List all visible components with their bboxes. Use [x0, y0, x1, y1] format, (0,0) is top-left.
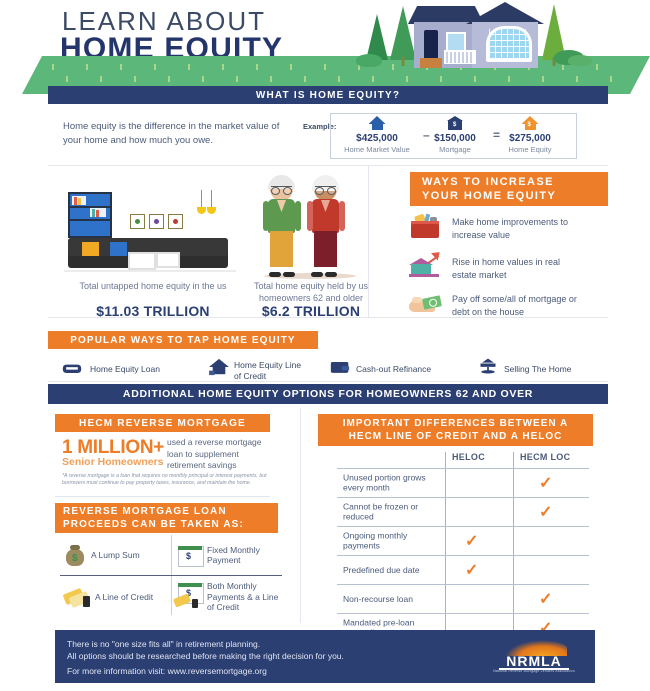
footer-line2: All options should be researched before …	[67, 650, 344, 662]
heloc-check-icon: ✓	[465, 560, 478, 580]
popular-way-label: Home Equity Line of Credit	[234, 360, 304, 382]
table-row: Predefined due date✓	[335, 555, 593, 584]
table-row: Unused portion grows every month✓	[335, 468, 593, 497]
additional-options-label: ADDITIONAL HOME EQUITY OPTIONS FOR HOMEO…	[123, 388, 533, 400]
grass-tuft	[100, 76, 102, 82]
column-header-heloc: HELOC	[452, 452, 485, 462]
ways-bar-line1: WAYS TO INCREASE	[422, 175, 554, 189]
hecm-footnote: *A reverse mortgage is a loan that requi…	[62, 473, 270, 487]
proceeds-option-label: A Lump Sum	[91, 550, 140, 561]
check-icon: $	[178, 546, 202, 565]
house-door	[424, 30, 438, 58]
side-table-icon	[156, 252, 180, 268]
divider-vertical	[300, 408, 301, 623]
row-divider	[337, 613, 589, 614]
example-caption: Mortgage	[414, 145, 496, 154]
bank-icon: $	[447, 116, 463, 130]
proceeds-bar-line1: REVERSE MORTGAGE LOAN	[63, 505, 227, 518]
footer-line3[interactable]: For more information visit: www.reversem…	[67, 666, 267, 676]
cash-stack-icon	[62, 360, 82, 376]
section-bar-comparison: IMPORTANT DIFFERENCES BETWEEN A HECM LIN…	[318, 414, 593, 446]
row-divider	[337, 555, 589, 556]
grass-tuft	[338, 76, 340, 82]
house-arch-window	[486, 26, 532, 62]
proceeds-option: $ Both Monthly Payments & a Line of Cred…	[178, 577, 286, 617]
grass-tuft	[270, 76, 272, 82]
proceeds-option-label: A Line of Credit	[95, 592, 153, 603]
infographic-page: LEARN ABOUT HOME EQUITY	[0, 0, 650, 691]
divider	[48, 165, 608, 166]
coffee-table-icon	[128, 252, 156, 270]
home-equity-definition: Home equity is the difference in the mar…	[63, 120, 288, 148]
row-divider	[337, 526, 589, 527]
comparison-bar-line2: HECM LINE OF CREDIT AND A HELOC	[349, 430, 563, 443]
footer-text-block: There is no "one size fits all" in retir…	[67, 638, 344, 662]
hecm-loc-check-icon: ✓	[539, 473, 552, 493]
example-caption: Home Market Value	[336, 145, 418, 154]
table-row-feature: Cannot be frozen or reduced	[343, 501, 438, 522]
footer-line1: There is no "one size fits all" in retir…	[67, 638, 344, 650]
table-row: Non-recourse loan✓	[335, 584, 593, 613]
nrmla-logo: NRMLA National Reverse Mortgage Lenders …	[491, 640, 577, 674]
popular-way-label: Selling The Home	[504, 364, 604, 375]
bookshelf-icon	[68, 192, 112, 238]
grass-tuft	[168, 76, 170, 82]
example-amount: $150,000	[414, 133, 496, 144]
proceeds-options-grid: $ A Lump Sum $ Fixed Monthly Payment A L…	[60, 533, 282, 617]
ways-bar-line2: YOUR HOME EQUITY	[422, 189, 556, 203]
way-to-increase-text: Pay off some/all of mortgage or debt on …	[452, 293, 592, 318]
hecm-stat-text: used a reverse mortgage loan to suppleme…	[167, 437, 272, 472]
house-blue-icon	[369, 116, 386, 130]
hecm-loc-check-icon: ✓	[539, 502, 552, 522]
example-caption: Home Equity	[489, 145, 571, 154]
for-sale-sign-icon	[478, 357, 498, 373]
section-bar-popular-ways: POPULAR WAYS TO TAP HOME EQUITY	[48, 331, 318, 349]
living-room-illustration	[68, 190, 238, 280]
table-row-feature: Unused portion grows every month	[343, 472, 438, 493]
grass-tuft	[290, 64, 292, 70]
stat-caption: Total untapped home equity in the us	[78, 280, 228, 292]
stat-caption: Total home equity held by us homeowners …	[232, 280, 390, 304]
table-row-feature: Ongoing monthly payments	[343, 530, 438, 551]
table-row: Cannot be frozen or reduced✓	[335, 497, 593, 526]
proceeds-option: $ Fixed Monthly Payment	[178, 535, 286, 575]
bush-icon	[568, 55, 592, 66]
grass-tuft	[222, 64, 224, 70]
house-scene-illustration	[352, 0, 650, 80]
section-bar-label: WHAT IS HOME EQUITY?	[256, 90, 400, 101]
footer-banner: There is no "one size fits all" in retir…	[55, 630, 595, 683]
example-item-mortgage: $ $150,000 Mortgage	[414, 116, 496, 154]
section-bar-what-is-home-equity: WHAT IS HOME EQUITY?	[48, 86, 608, 104]
grass-tuft	[188, 64, 190, 70]
popular-way-label: Cash-out Refinance	[356, 364, 456, 375]
proceeds-bar-line2: PROCEEDS CAN BE TAKEN AS:	[63, 518, 244, 531]
grass-tuft	[256, 64, 258, 70]
table-row-feature: Non-recourse loan	[343, 593, 438, 604]
grass-tuft	[86, 64, 88, 70]
money-bag-icon: $	[64, 544, 86, 566]
nrmla-logo-subtitle: National Reverse Mortgage Lenders Associ…	[491, 669, 577, 673]
wall-art-frames	[130, 214, 183, 229]
house-window	[446, 32, 466, 52]
house-illustration	[410, 2, 540, 68]
grass-tuft	[52, 64, 54, 70]
row-divider	[337, 584, 589, 585]
grass-tuft	[66, 76, 68, 82]
credit-card-icon	[64, 587, 90, 607]
column-header-hecm-loc: HECM LOC	[520, 452, 570, 462]
toolbox-icon	[409, 213, 443, 239]
grass-tuft	[120, 64, 122, 70]
table-row: Ongoing monthly payments✓	[335, 526, 593, 555]
hecm-loc-check-icon: ✓	[539, 589, 552, 609]
senior-couple-illustration	[262, 172, 358, 277]
heloc-check-icon: ✓	[465, 531, 478, 551]
section-bar-hecm-reverse-mortgage: HECM REVERSE MORTGAGE	[55, 414, 270, 432]
example-amount: $425,000	[336, 133, 418, 144]
section-bar-ways-to-increase: WAYS TO INCREASE YOUR HOME EQUITY	[410, 172, 608, 206]
house-icon	[208, 358, 228, 374]
proceeds-option-label: Fixed Monthly Payment	[207, 545, 286, 566]
grass-tuft	[202, 76, 204, 82]
table-row-feature: Predefined due date	[343, 564, 438, 575]
hero-header: LEARN ABOUT HOME EQUITY	[0, 0, 650, 100]
hecm-stat-sub: Senior Homeowners	[62, 456, 164, 468]
comparison-bar-line1: IMPORTANT DIFFERENCES BETWEEN A	[343, 417, 568, 430]
hand-cash-icon	[409, 289, 443, 315]
row-divider	[337, 468, 589, 469]
person-woman	[306, 177, 346, 277]
grass-tuft	[154, 64, 156, 70]
house-orange-icon: $	[522, 116, 539, 130]
person-man	[262, 177, 302, 277]
grass-tuft	[304, 76, 306, 82]
divider	[48, 381, 608, 382]
proceeds-option: $ A Lump Sum	[64, 535, 172, 575]
example-item-market-value: $425,000 Home Market Value	[336, 116, 418, 154]
grass-tuft	[236, 76, 238, 82]
grass-tuft	[134, 76, 136, 82]
section-bar-additional-options: ADDITIONAL HOME EQUITY OPTIONS FOR HOMEO…	[48, 384, 608, 404]
divider	[48, 317, 608, 318]
section-bar-proceeds: REVERSE MORTGAGE LOAN PROCEEDS CAN BE TA…	[55, 503, 278, 533]
way-to-increase-text: Make home improvements to increase value	[452, 216, 587, 241]
proceeds-option: A Line of Credit	[64, 577, 172, 617]
example-amount: $275,000	[489, 133, 571, 144]
divider	[55, 496, 270, 497]
grass-tuft	[324, 64, 326, 70]
proceeds-option-label: Both Monthly Payments & a Line of Credit	[207, 581, 286, 613]
example-item-home-equity: $ $275,000 Home Equity	[489, 116, 571, 154]
nrmla-logo-text: NRMLA	[491, 653, 577, 669]
popular-ways-bar-label: POPULAR WAYS TO TAP HOME EQUITY	[70, 335, 295, 346]
row-divider	[337, 497, 589, 498]
check-and-card-icon: $	[178, 583, 202, 602]
bush-icon	[356, 54, 382, 67]
pendant-lamp-icon	[196, 190, 220, 220]
wallet-icon	[330, 359, 350, 375]
way-to-increase-text: Rise in home values in real estate marke…	[452, 256, 587, 281]
hecm-bar-label: HECM REVERSE MORTGAGE	[79, 418, 246, 429]
popular-way-label: Home Equity Loan	[90, 364, 190, 375]
house-growth-arrow-icon	[409, 252, 443, 278]
